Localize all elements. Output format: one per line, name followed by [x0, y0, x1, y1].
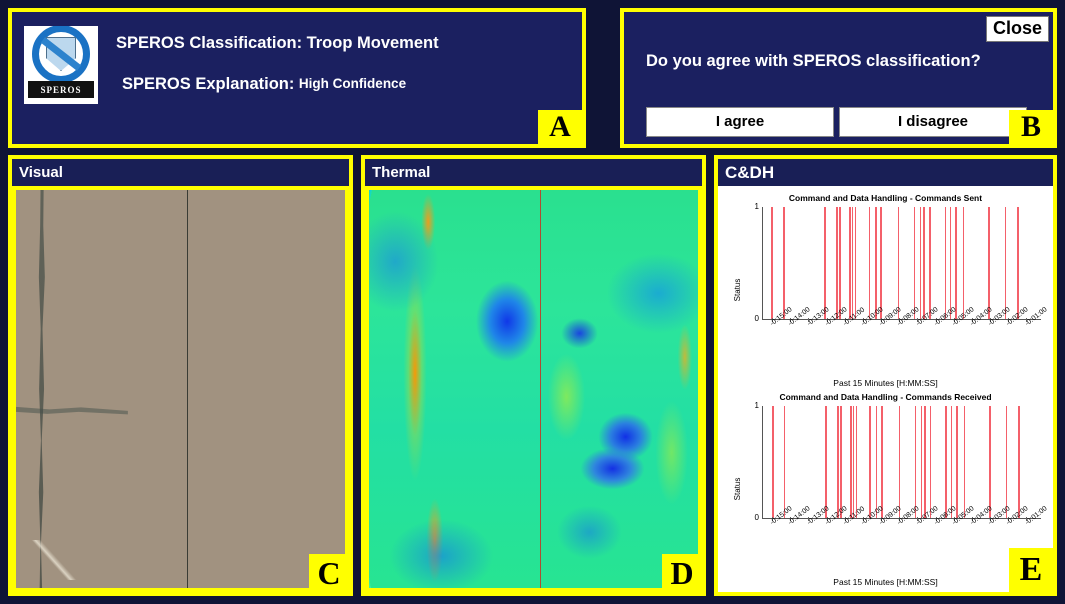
chart-impulse-bar: [784, 406, 786, 518]
panel-tag-a: A: [538, 110, 582, 144]
dashboard-root: SPEROS SPEROS Classification: Troop Move…: [0, 0, 1065, 604]
chart-impulse-bar: [1017, 207, 1019, 319]
chart-impulse-bar: [955, 207, 957, 319]
chart-impulse-bar: [876, 406, 878, 518]
chart-impulse-bar: [825, 406, 827, 518]
logo-banner-text: SPEROS: [40, 85, 81, 95]
cdh-header: C&DH: [718, 159, 1053, 186]
chart-impulse-bar: [950, 207, 952, 319]
chart-impulse-bar: [856, 406, 858, 518]
chart-plot-area: 1 0: [762, 207, 1041, 320]
chart-commands-sent: Command and Data Handling - Commands Sen…: [722, 190, 1049, 389]
chart-impulse-bar: [929, 207, 931, 319]
chart-impulse-bar: [924, 406, 926, 518]
chart-impulse-bar: [956, 406, 958, 518]
chart-impulse-bar: [881, 406, 883, 518]
chart-ylabel: Status: [733, 477, 742, 500]
chart-impulse-bar: [853, 406, 855, 518]
chart-xticks: -0:15:00-0:14:00-0:13:00-0:12:00-0:11:00…: [762, 322, 1041, 356]
chart-impulse-bar: [852, 207, 854, 319]
chart-impulse-bar: [869, 207, 871, 319]
chart-ylabel: Status: [733, 278, 742, 301]
cdh-title: C&DH: [725, 163, 774, 183]
explanation-row: SPEROS Explanation: High Confidence: [116, 75, 439, 94]
chart-impulse-bar: [837, 406, 839, 518]
chart-impulse-bar: [898, 207, 900, 319]
close-button[interactable]: Close: [986, 16, 1049, 42]
thermal-header: Thermal: [365, 159, 702, 186]
chart-impulse-bar: [923, 207, 925, 319]
panel-classification: SPEROS SPEROS Classification: Troop Move…: [8, 8, 586, 148]
chart-impulse-bar: [951, 406, 953, 518]
visual-pale-streak: [26, 540, 84, 580]
chart-impulse-bar: [989, 406, 991, 518]
panel-tag-e: E: [1009, 548, 1053, 592]
classification-value: Troop Movement: [307, 34, 439, 52]
chart-commands-received: Command and Data Handling - Commands Rec…: [722, 389, 1049, 588]
chart-title: Command and Data Handling - Commands Rec…: [722, 392, 1049, 402]
thermal-jet-texture: [369, 190, 698, 588]
feedback-question: Do you agree with SPEROS classification?: [646, 52, 981, 71]
agree-button[interactable]: I agree: [646, 107, 834, 137]
chart-impulse-bar: [840, 406, 842, 518]
chart-impulse-bar: [849, 207, 851, 319]
chart-impulse-bar: [988, 207, 990, 319]
classification-text-block: SPEROS Classification: Troop Movement SP…: [98, 12, 439, 116]
chart-impulse-bar: [920, 207, 922, 319]
panel-cdh: C&DH Command and Data Handling - Command…: [714, 155, 1057, 596]
chart-xlabel: Past 15 Minutes [H:MM:SS]: [722, 378, 1049, 388]
logo-banner: SPEROS: [28, 81, 94, 98]
chart-ytick-0: 0: [755, 514, 759, 522]
chart-impulse-bar: [836, 207, 838, 319]
chart-impulse-bar: [783, 207, 785, 319]
panel-tag-b: B: [1009, 110, 1053, 144]
chart-ytick-1: 1: [755, 402, 759, 410]
chart-impulse-bar: [824, 207, 826, 319]
chart-impulse-bar: [839, 207, 841, 319]
chart-title: Command and Data Handling - Commands Sen…: [722, 193, 1049, 203]
cdh-body: Command and Data Handling - Commands Sen…: [722, 190, 1049, 588]
panel-tag-d: D: [662, 554, 702, 592]
chart-impulse-bar: [964, 406, 966, 518]
thermal-seam-line: [540, 190, 541, 588]
chart-impulse-bar: [1006, 406, 1008, 518]
explanation-value: High Confidence: [299, 76, 406, 91]
visual-seam-line: [187, 190, 188, 588]
panel-thermal[interactable]: Thermal D: [361, 155, 706, 596]
chart-impulse-bar: [869, 406, 871, 518]
chart-impulse-bar: [850, 406, 852, 518]
chart-impulse-bar: [772, 406, 774, 518]
thermal-title: Thermal: [372, 164, 430, 181]
visual-title: Visual: [19, 164, 63, 181]
explanation-label: SPEROS Explanation:: [122, 75, 294, 93]
chart-ytick-1: 1: [755, 203, 759, 211]
chart-impulse-bar: [899, 406, 901, 518]
panel-tag-c: C: [309, 554, 349, 592]
chart-impulse-bar: [930, 406, 932, 518]
chart-impulse-bar: [921, 406, 923, 518]
visual-image[interactable]: [16, 190, 345, 588]
panel-classification-inner: SPEROS SPEROS Classification: Troop Move…: [12, 12, 582, 144]
chart-ytick-0: 0: [755, 315, 759, 323]
disagree-button[interactable]: I disagree: [839, 107, 1027, 137]
chart-xlabel: Past 15 Minutes [H:MM:SS]: [722, 577, 1049, 587]
chart-impulse-bar: [771, 207, 773, 319]
panel-feedback-inner: Close Do you agree with SPEROS classific…: [624, 12, 1053, 144]
classification-row: SPEROS Classification: Troop Movement: [116, 34, 439, 53]
chart-impulse-bar: [875, 207, 877, 319]
chart-impulse-bar: [915, 406, 917, 518]
panel-visual[interactable]: Visual C: [8, 155, 353, 596]
chart-impulse-bar: [880, 207, 882, 319]
chart-impulse-bar: [1018, 406, 1020, 518]
chart-plot-area: 1 0: [762, 406, 1041, 519]
chart-impulse-bar: [914, 207, 916, 319]
classification-label: SPEROS Classification:: [116, 34, 302, 52]
chart-impulse-bar: [963, 207, 965, 319]
feedback-button-group: I agree I disagree: [646, 107, 1027, 137]
chart-impulse-bar: [945, 207, 947, 319]
chart-impulse-bar: [855, 207, 857, 319]
chart-impulse-bar: [945, 406, 947, 518]
visual-header: Visual: [12, 159, 349, 186]
speros-logo: SPEROS: [24, 26, 98, 104]
chart-impulse-bar: [1005, 207, 1007, 319]
chart-xticks: -0:15:00-0:14:00-0:13:00-0:12:00-0:11:00…: [762, 521, 1041, 555]
visual-terrain-texture: [16, 190, 345, 588]
panel-feedback: Close Do you agree with SPEROS classific…: [620, 8, 1057, 148]
thermal-image[interactable]: [369, 190, 698, 588]
